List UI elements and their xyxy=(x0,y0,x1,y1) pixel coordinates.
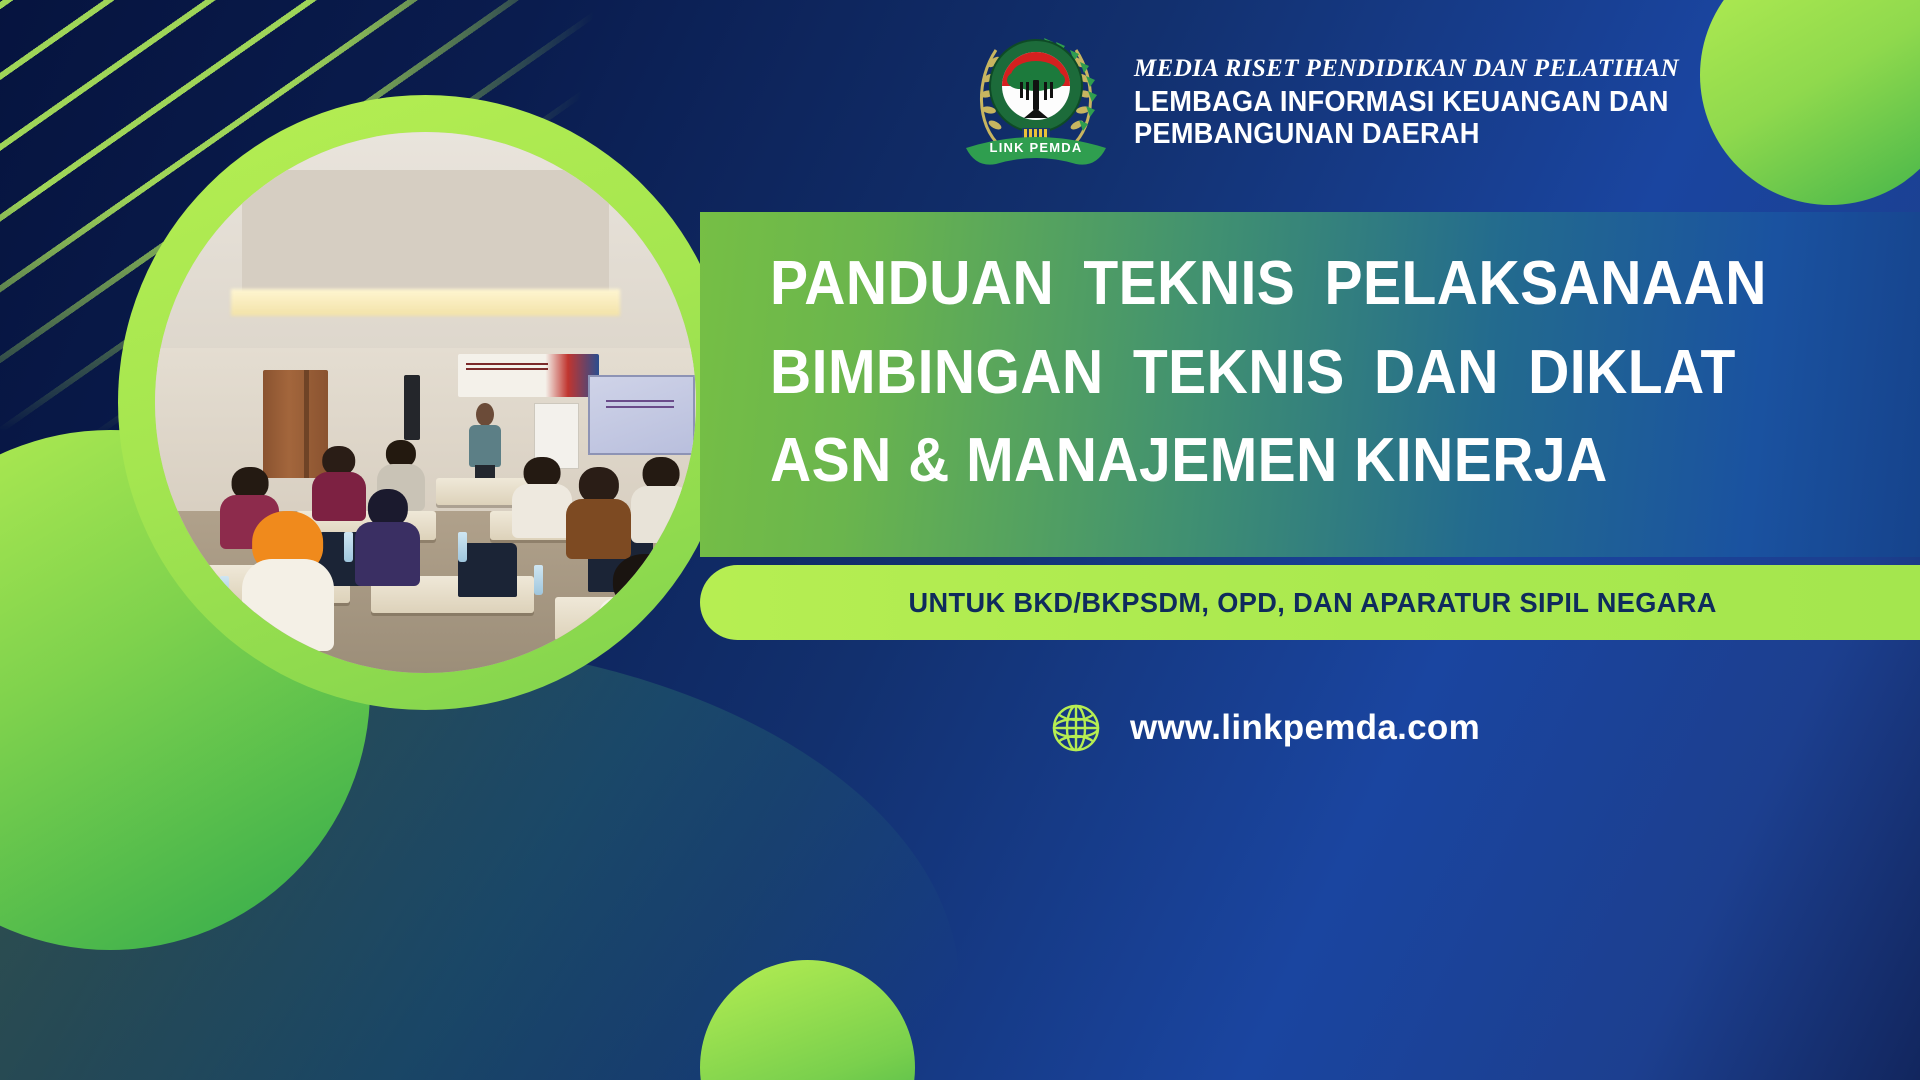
seminar-photo xyxy=(155,132,696,673)
website-url[interactable]: www.linkpemda.com xyxy=(1130,708,1480,748)
brand-header: LINK PEMDA MEDIA RISET PENDIDIKAN DAN PE… xyxy=(960,28,1703,176)
logo-ribbon-text: LINK PEMDA xyxy=(960,140,1112,155)
subtitle-pill: UNTUK BKD/BKPSDM, OPD, DAN APARATUR SIPI… xyxy=(700,565,1920,640)
organization-name: MEDIA RISET PENDIDIKAN DAN PELATIHAN LEM… xyxy=(1134,56,1703,149)
main-title: PANDUAN TEKNIS PELAKSANAAN BIMBINGAN TEK… xyxy=(770,240,1900,506)
org-line-2: LEMBAGA INFORMASI KEUANGAN DAN xyxy=(1134,88,1669,117)
circle-decoration-top-right xyxy=(1700,0,1920,205)
org-line-3: PEMBANGUNAN DAERAH xyxy=(1134,120,1669,149)
link-pemda-logo: LINK PEMDA xyxy=(960,28,1112,176)
title-line-2: BIMBINGAN TEKNIS DAN DIKLAT xyxy=(770,329,1810,418)
promo-banner: LINK PEMDA MEDIA RISET PENDIDIKAN DAN PE… xyxy=(0,0,1920,1080)
globe-icon xyxy=(1048,700,1104,756)
org-line-1: MEDIA RISET PENDIDIKAN DAN PELATIHAN xyxy=(1134,56,1703,81)
title-line-3: ASN & MANAJEMEN KINERJA xyxy=(770,417,1810,506)
website-row[interactable]: www.linkpemda.com xyxy=(1048,700,1480,756)
subtitle-text: UNTUK BKD/BKPSDM, OPD, DAN APARATUR SIPI… xyxy=(908,587,1716,619)
title-line-1: PANDUAN TEKNIS PELAKSANAAN xyxy=(770,240,1810,329)
